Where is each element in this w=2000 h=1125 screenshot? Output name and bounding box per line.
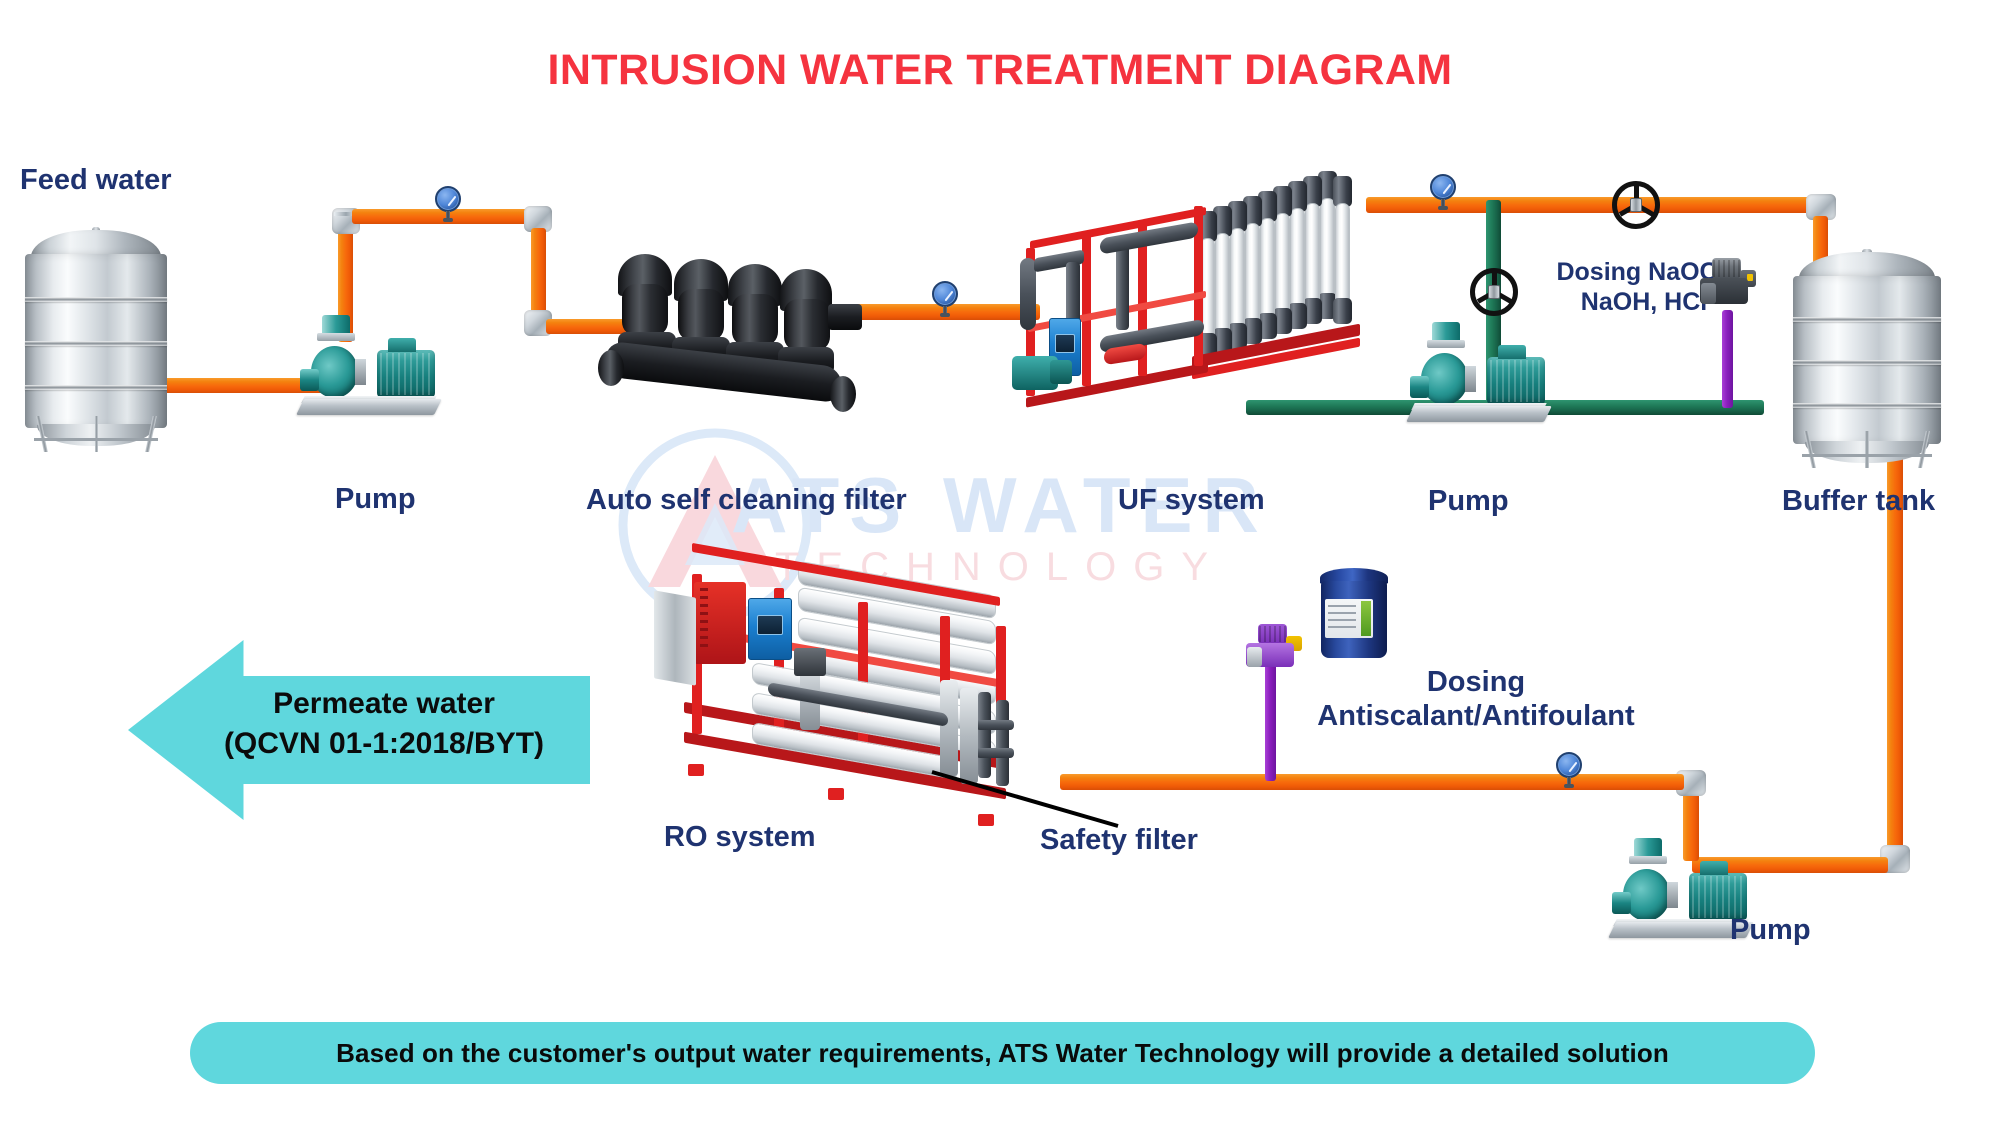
pipe-purple-dosing-uf <box>1722 310 1733 408</box>
label-pump-3: Pump <box>1730 913 1811 947</box>
dosing-pump-valve-head <box>1701 283 1716 304</box>
valve-handwheel-top-icon[interactable] <box>1612 181 1660 229</box>
ro-frame-foot <box>688 764 704 776</box>
footer-banner: Based on the customer's output water req… <box>190 1022 1815 1084</box>
label-safety-filter: Safety filter <box>1040 823 1198 857</box>
chemical-drum[interactable] <box>1320 568 1388 660</box>
pump-coupling <box>355 359 366 385</box>
ro-manifold-crossover <box>976 720 1014 730</box>
label-pump-2: Pump <box>1428 484 1509 518</box>
safety-filter-leader-line <box>930 770 1120 830</box>
tank-leg <box>1865 431 1869 468</box>
pump-baseplate <box>1406 406 1552 422</box>
uf-module <box>1245 223 1260 327</box>
gauge-dial <box>932 281 958 307</box>
uf-module <box>1305 203 1320 307</box>
feed-water-tank[interactable] <box>22 230 170 452</box>
label-pump-1: Pump <box>335 482 416 516</box>
pump-motor-fins <box>1490 360 1542 402</box>
uf-module <box>1260 218 1275 322</box>
ro-hp-pump-motor <box>794 648 826 676</box>
ro-safety-filter-housing <box>940 680 958 776</box>
uf-module <box>1215 233 1230 337</box>
pressure-gauge-3[interactable] <box>1430 174 1456 208</box>
uf-module-cap <box>1333 298 1352 324</box>
warning-label-icon <box>1747 274 1753 281</box>
pipe-filter-downriser <box>531 228 546 316</box>
uf-module <box>1320 198 1335 302</box>
label-ro-system: RO system <box>664 820 816 854</box>
permeate-line2: (QCVN 01-1:2018/BYT) <box>188 724 580 764</box>
label-feed-water: Feed water <box>20 163 172 197</box>
drum-label-text-line <box>1328 626 1356 628</box>
pressure-gauge-1[interactable] <box>435 186 461 220</box>
gauge-foot <box>1564 784 1574 788</box>
gauge-foot <box>1438 206 1448 210</box>
gauge-dial <box>1556 752 1582 778</box>
pump-suction-nozzle <box>1410 376 1429 398</box>
pump-2[interactable] <box>1410 322 1548 422</box>
filter-vessel-body <box>732 294 778 346</box>
dosing-pump-motor-fins <box>1259 626 1286 642</box>
buffer-tank[interactable] <box>1790 252 1944 468</box>
ro-frame-foot <box>828 788 844 800</box>
pump-discharge-flange <box>1427 340 1466 348</box>
gauge-needle <box>1568 762 1577 773</box>
dosing-pump-uf[interactable] <box>1700 258 1756 320</box>
label-dosing-antiscalant: Dosing Antiscalant/Antifoulant <box>1290 665 1662 733</box>
valve-hub <box>1630 198 1642 212</box>
uf-internal-riser <box>1116 242 1129 330</box>
pump-coupling <box>1667 882 1678 908</box>
drum-label-text-line <box>1328 612 1356 614</box>
uf-module <box>1275 213 1290 317</box>
gauge-needle <box>944 291 953 302</box>
gauge-dial <box>1430 174 1456 200</box>
gauge-dial <box>435 186 461 212</box>
valve-handwheel-green-icon[interactable] <box>1470 268 1518 316</box>
drum-label-text-line <box>1328 605 1356 607</box>
pump-suction-nozzle <box>300 369 319 391</box>
permeate-line1: Permeate water <box>188 684 580 724</box>
pipe-pump3-to-ro <box>1060 774 1684 790</box>
gauge-foot <box>940 313 950 317</box>
filter-vessel-body <box>784 299 830 351</box>
uf-pump-motor <box>1050 360 1072 384</box>
pump-terminal-box <box>1700 861 1728 875</box>
pump-motor-fins <box>380 353 432 395</box>
filter-manifold-cap <box>598 350 624 386</box>
label-dosing-anti-line2: Antiscalant/Antifoulant <box>1290 699 1662 733</box>
pump-coupling <box>1465 366 1476 392</box>
permeate-arrow-text: Permeate water (QCVN 01-1:2018/BYT) <box>188 684 580 763</box>
pump-suction-nozzle <box>1612 892 1631 914</box>
pump-terminal-box <box>1498 345 1526 359</box>
diagram-canvas: ATS WATER TECHNOLOGY INTRUSION WATER TRE… <box>0 0 2000 1125</box>
label-uf-system: UF system <box>1118 483 1265 517</box>
dosing-pump-motor-fins <box>1713 260 1740 277</box>
gauge-foot <box>443 218 453 222</box>
drum-label-stripe <box>1361 601 1371 637</box>
uf-system[interactable] <box>1004 168 1404 458</box>
uf-membrane-array <box>1190 168 1410 398</box>
tank-ring <box>25 341 167 346</box>
uf-panel-screen <box>1055 334 1074 353</box>
permeate-water-arrow: Permeate water (QCVN 01-1:2018/BYT) <box>128 640 590 820</box>
pressure-gauge-4[interactable] <box>1556 752 1582 786</box>
pressure-gauge-2[interactable] <box>932 281 958 315</box>
valve-hub <box>1488 285 1500 299</box>
uf-module <box>1290 208 1305 312</box>
tank-leg <box>95 416 99 452</box>
drum-label <box>1325 599 1373 638</box>
filter-outlet-nozzle <box>828 304 862 330</box>
pump-discharge-flange <box>1629 856 1668 864</box>
ro-cabinet-vents <box>700 588 708 648</box>
pump-terminal-box <box>388 338 416 352</box>
ro-manifold-crossover <box>976 748 1014 758</box>
pipe-buffer-to-bottom <box>1887 404 1903 852</box>
page-title: INTRUSION WATER TREATMENT DIAGRAM <box>0 46 2000 95</box>
pump-discharge-flange <box>317 333 356 341</box>
tank-crossbar <box>34 438 158 441</box>
filter-vessel-body <box>622 284 668 336</box>
tank-ring <box>25 297 167 302</box>
ro-control-panel[interactable] <box>748 598 792 660</box>
label-dosing-anti-line1: Dosing <box>1290 665 1662 699</box>
pump-motor-fins <box>1692 876 1744 918</box>
ro-panel-screen <box>757 615 784 635</box>
label-buffer-tank: Buffer tank <box>1782 484 1935 518</box>
pump-1[interactable] <box>300 315 438 415</box>
ro-manifold-header <box>978 692 991 778</box>
tank-ring <box>1793 403 1941 408</box>
dosing-pump-valve-head <box>1247 647 1262 667</box>
uf-module <box>1230 228 1245 332</box>
tank-ring <box>25 385 167 390</box>
uf-module <box>1335 203 1350 307</box>
pump-baseplate <box>296 399 442 415</box>
footer-banner-text: Based on the customer's output water req… <box>336 1038 1669 1069</box>
filter-vessel-body <box>678 289 724 341</box>
filter-manifold-cap <box>830 376 856 412</box>
auto-self-cleaning-filter[interactable] <box>612 250 854 410</box>
drum-label-text-line <box>1328 619 1356 621</box>
tank-crossbar <box>1802 454 1931 457</box>
tank-ring <box>1793 317 1941 322</box>
gauge-needle <box>1442 184 1451 195</box>
ro-end-panel <box>654 590 696 685</box>
gauge-needle <box>447 196 456 207</box>
label-auto-filter: Auto self cleaning filter <box>586 483 907 517</box>
tank-ring <box>1793 360 1941 365</box>
